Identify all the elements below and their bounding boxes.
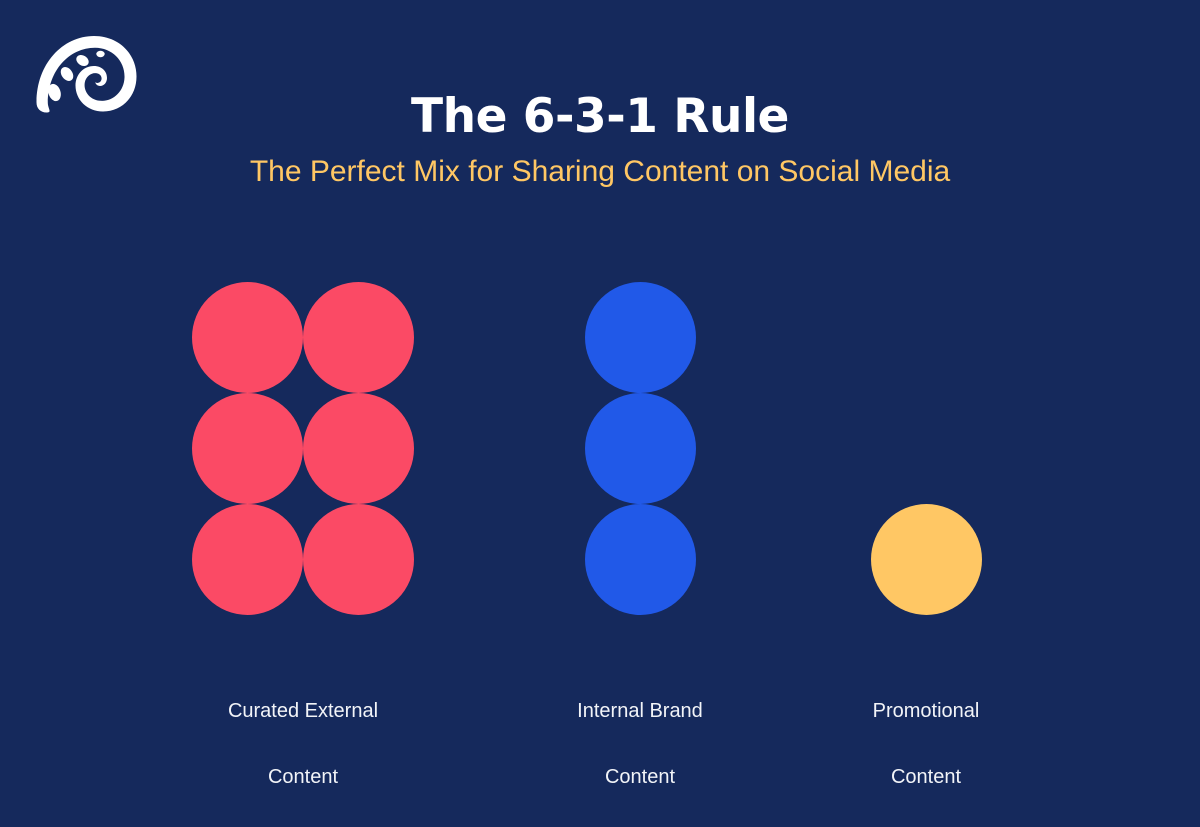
dot-curated-5	[192, 504, 303, 615]
dot-grid-internal	[529, 282, 751, 615]
dot-grid-curated	[192, 282, 414, 615]
dot-curated-1	[192, 282, 303, 393]
dot-internal-1	[585, 282, 696, 393]
dot-curated-2	[303, 282, 414, 393]
group-curated-external-content: Curated External Content	[192, 282, 414, 827]
page-title: The 6-3-1 Rule	[0, 88, 1200, 146]
group-label-curated-line2: Content	[192, 761, 414, 794]
page-subtitle: The Perfect Mix for Sharing Content on S…	[0, 152, 1200, 192]
group-label-curated-line1: Curated External	[192, 695, 414, 728]
dot-grid-promotional	[815, 282, 1037, 615]
dot-internal-2	[585, 393, 696, 504]
group-label-internal-line2: Content	[529, 761, 751, 794]
dot-curated-3	[192, 393, 303, 504]
group-internal-brand-content: Internal Brand Content	[529, 282, 751, 827]
group-label-internal-line1: Internal Brand	[529, 695, 751, 728]
pictogram-groups: Curated External Content Internal Brand …	[0, 282, 1200, 722]
dot-curated-4	[303, 393, 414, 504]
group-label-promotional-line1: Promotional	[815, 695, 1037, 728]
group-promotional-content: Promotional Content	[815, 282, 1037, 827]
header: The 6-3-1 Rule The Perfect Mix for Shari…	[0, 88, 1200, 192]
infographic-canvas: The 6-3-1 Rule The Perfect Mix for Shari…	[0, 0, 1200, 800]
group-label-internal: Internal Brand Content	[529, 662, 751, 827]
group-label-curated: Curated External Content	[192, 662, 414, 827]
group-label-promotional-line2: Content	[815, 761, 1037, 794]
dot-internal-3	[585, 504, 696, 615]
dot-promotional-1	[871, 504, 982, 615]
group-label-promotional: Promotional Content	[815, 662, 1037, 827]
dot-curated-6	[303, 504, 414, 615]
